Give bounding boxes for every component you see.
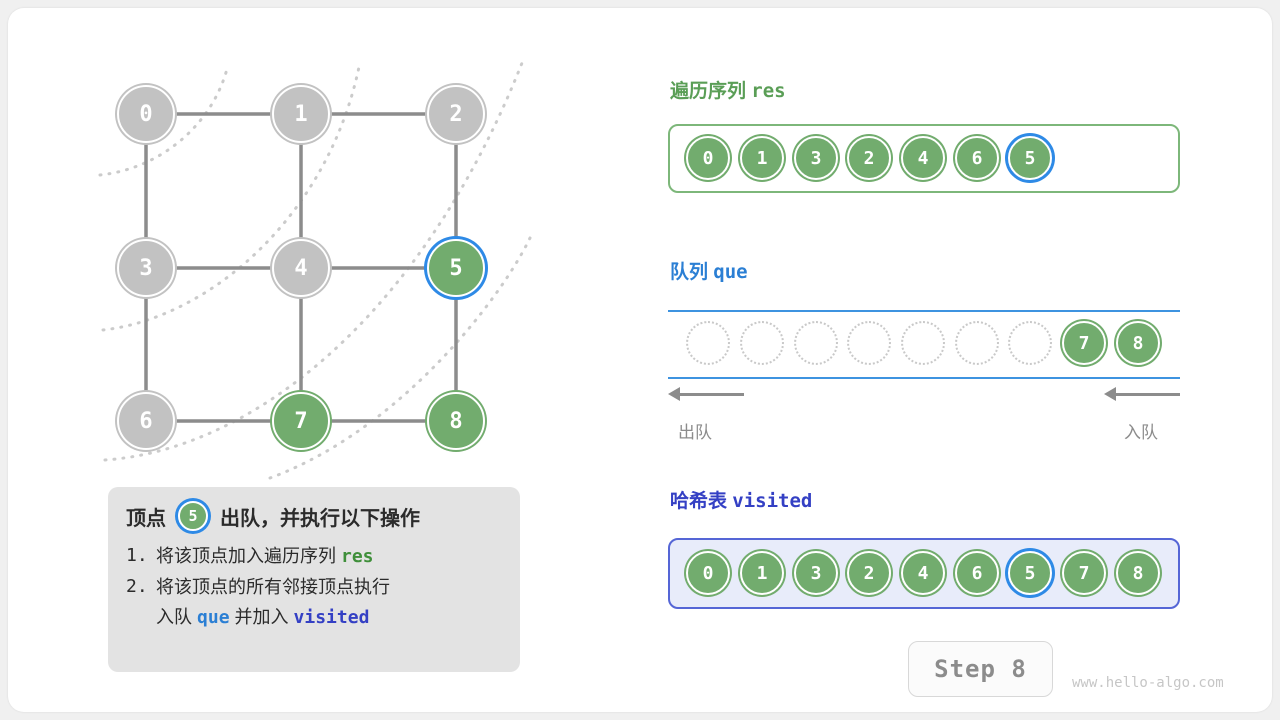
caption-line-1-part-1: 将该顶点加入遍历序列 bbox=[156, 546, 341, 566]
visited-item-4[interactable]: 4 bbox=[901, 551, 945, 595]
visited-item-7-label: 7 bbox=[1079, 563, 1090, 584]
caption-head-suffix: 出队，并执行以下操作 bbox=[220, 502, 420, 531]
caption-head-prefix: 顶点 bbox=[126, 502, 166, 531]
que-title-cn: 队列 bbox=[670, 262, 708, 283]
res-title: 遍历序列 res bbox=[670, 76, 786, 103]
res-item-1-label: 1 bbox=[757, 148, 768, 169]
caption-line-1-kw-res: res bbox=[341, 546, 374, 567]
res-title-var: res bbox=[751, 80, 785, 102]
res-item-4[interactable]: 4 bbox=[901, 136, 945, 180]
graph-node-4-label: 4 bbox=[294, 256, 307, 281]
graph-node-8[interactable]: 8 bbox=[427, 392, 485, 450]
queue-item-0[interactable]: 7 bbox=[1062, 321, 1106, 365]
que-title-var: que bbox=[713, 261, 747, 283]
visited-item-2[interactable]: 3 bbox=[794, 551, 838, 595]
graph-node-5[interactable]: 5 bbox=[427, 239, 485, 297]
visited-item-5[interactable]: 6 bbox=[955, 551, 999, 595]
visited-item-8-label: 8 bbox=[1133, 563, 1144, 584]
visited-item-6-label: 5 bbox=[1025, 563, 1036, 584]
enqueue-arrow-icon bbox=[1104, 387, 1180, 401]
caption-heading: 顶点 5 出队，并执行以下操作 bbox=[126, 501, 502, 531]
res-item-5[interactable]: 6 bbox=[955, 136, 999, 180]
res-item-6-label: 5 bbox=[1025, 148, 1036, 169]
res-item-0[interactable]: 0 bbox=[686, 136, 730, 180]
graph-node-0-label: 0 bbox=[139, 102, 152, 127]
graph-node-5-label: 5 bbox=[449, 256, 462, 281]
graph-node-1[interactable]: 1 bbox=[272, 85, 330, 143]
graph-node-4[interactable]: 4 bbox=[272, 239, 330, 297]
dequeue-arrow-icon bbox=[668, 387, 744, 401]
caption-node-badge-label: 5 bbox=[188, 507, 197, 525]
res-item-4-label: 4 bbox=[918, 148, 929, 169]
caption-box: 顶点 5 出队，并执行以下操作 1. 将该顶点加入遍历序列 res 2. 将该顶… bbox=[108, 487, 520, 672]
visited-item-8[interactable]: 8 bbox=[1116, 551, 1160, 595]
queue-item-0-label: 7 bbox=[1079, 333, 1090, 354]
visited-item-0-label: 0 bbox=[703, 563, 714, 584]
queue-top-rail bbox=[668, 310, 1180, 312]
screenshot-root: 0 1 2 3 4 5 6 7 8 遍历序列 res 0 1 3 2 4 6 5… bbox=[0, 0, 1280, 720]
graph-node-7-label: 7 bbox=[294, 409, 307, 434]
queue-slot-empty-7 bbox=[1008, 321, 1052, 365]
queue-item-1[interactable]: 8 bbox=[1116, 321, 1160, 365]
res-item-6[interactable]: 5 bbox=[1008, 136, 1052, 180]
queue-slot-empty-4 bbox=[847, 321, 891, 365]
caption-line-2-text: 将该顶点的所有邻接顶点执行 bbox=[156, 572, 502, 602]
dequeue-label: 出队 bbox=[678, 418, 712, 443]
caption-line-3-kw-que: que bbox=[197, 607, 230, 628]
que-title: 队列 que bbox=[670, 257, 748, 284]
visited-title-var: visited bbox=[732, 490, 812, 512]
res-item-3[interactable]: 2 bbox=[847, 136, 891, 180]
visited-item-3[interactable]: 2 bbox=[847, 551, 891, 595]
caption-line-3-num bbox=[126, 602, 156, 633]
visited-item-2-label: 3 bbox=[811, 563, 822, 584]
visited-title: 哈希表 visited bbox=[670, 486, 812, 513]
visited-item-0[interactable]: 0 bbox=[686, 551, 730, 595]
res-item-5-label: 6 bbox=[972, 148, 983, 169]
graph-node-1-label: 1 bbox=[294, 102, 307, 127]
graph-node-7[interactable]: 7 bbox=[272, 392, 330, 450]
caption-line-3-kw-visited: visited bbox=[294, 607, 370, 628]
visited-title-cn: 哈希表 bbox=[670, 491, 727, 512]
graph-node-2[interactable]: 2 bbox=[427, 85, 485, 143]
visited-item-6[interactable]: 5 bbox=[1008, 551, 1052, 595]
caption-line-1-text: 将该顶点加入遍历序列 res bbox=[156, 541, 502, 572]
res-item-3-label: 2 bbox=[864, 148, 875, 169]
enqueue-label: 入队 bbox=[1124, 418, 1158, 443]
caption-line-3: 入队 que 并加入 visited bbox=[126, 602, 502, 633]
res-item-1[interactable]: 1 bbox=[740, 136, 784, 180]
queue-slot-empty-6 bbox=[955, 321, 999, 365]
visited-item-1[interactable]: 1 bbox=[740, 551, 784, 595]
res-title-cn: 遍历序列 bbox=[670, 81, 746, 102]
graph-node-8-label: 8 bbox=[449, 409, 462, 434]
watermark: www.hello-algo.com bbox=[1072, 675, 1224, 691]
visited-item-1-label: 1 bbox=[757, 563, 768, 584]
graph-node-3-label: 3 bbox=[139, 256, 152, 281]
queue-slot-empty-3 bbox=[794, 321, 838, 365]
caption-line-3-text: 入队 que 并加入 visited bbox=[156, 602, 502, 633]
graph-node-6[interactable]: 6 bbox=[117, 392, 175, 450]
caption-line-1: 1. 将该顶点加入遍历序列 res bbox=[126, 541, 502, 572]
queue-slot-empty-1 bbox=[686, 321, 730, 365]
caption-line-3-part-1: 入队 bbox=[156, 607, 197, 627]
res-item-0-label: 0 bbox=[703, 148, 714, 169]
visited-item-4-label: 4 bbox=[918, 563, 929, 584]
queue-slot-empty-5 bbox=[901, 321, 945, 365]
graph-node-6-label: 6 bbox=[139, 409, 152, 434]
caption-node-badge: 5 bbox=[178, 501, 208, 531]
visited-item-3-label: 2 bbox=[864, 563, 875, 584]
graph-node-2-label: 2 bbox=[449, 102, 462, 127]
caption-line-1-num: 1. bbox=[126, 541, 156, 572]
queue-bottom-rail bbox=[668, 377, 1180, 379]
caption-line-2: 2. 将该顶点的所有邻接顶点执行 bbox=[126, 572, 502, 602]
queue-item-1-label: 8 bbox=[1133, 333, 1144, 354]
caption-line-2-num: 2. bbox=[126, 572, 156, 602]
res-item-2[interactable]: 3 bbox=[794, 136, 838, 180]
queue-slot-empty-2 bbox=[740, 321, 784, 365]
graph-node-3[interactable]: 3 bbox=[117, 239, 175, 297]
caption-line-3-part-3: 并加入 bbox=[230, 607, 294, 627]
visited-item-5-label: 6 bbox=[972, 563, 983, 584]
graph-node-0[interactable]: 0 bbox=[117, 85, 175, 143]
step-badge: Step 8 bbox=[908, 641, 1053, 697]
res-item-2-label: 3 bbox=[811, 148, 822, 169]
visited-item-7[interactable]: 7 bbox=[1062, 551, 1106, 595]
